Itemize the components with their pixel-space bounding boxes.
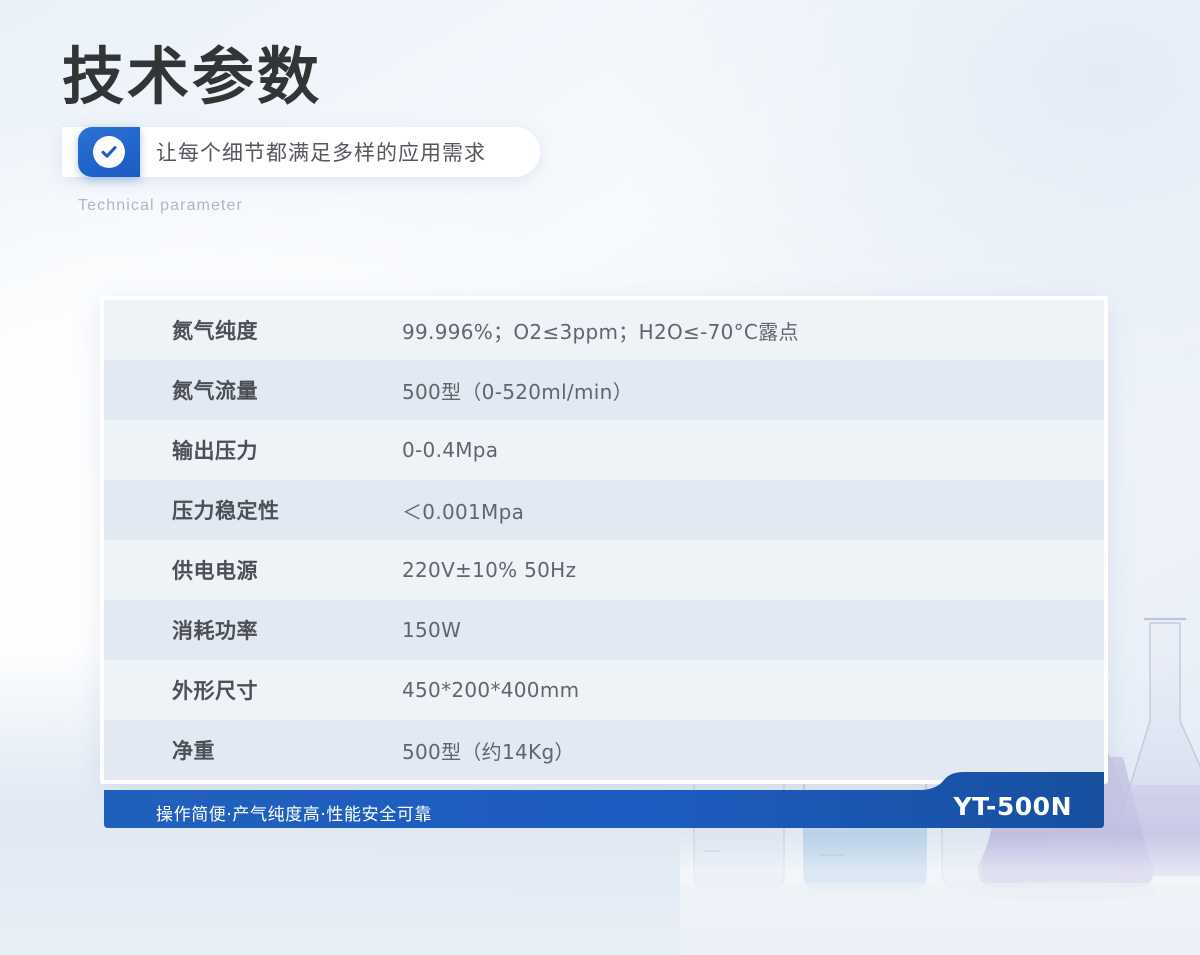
subtitle-text: 让每个细节都满足多样的应用需求 — [156, 127, 486, 177]
banner-tagline: 操作简便·产气纯度高·性能安全可靠 — [156, 792, 432, 832]
spec-row: 外形尺寸450*200*400mm — [104, 660, 1104, 720]
spec-label: 净重 — [104, 735, 402, 765]
spec-value: 450*200*400mm — [402, 678, 1104, 702]
spec-value: 500型（约14Kg） — [402, 736, 1104, 765]
spec-label: 输出压力 — [104, 435, 402, 465]
spec-label: 供电电源 — [104, 555, 402, 585]
spec-table: 氮气纯度99.996%；O2≤3ppm；H2O≤-70°C露点氮气流量500型（… — [104, 300, 1104, 780]
spec-row: 氮气流量500型（0-520ml/min） — [104, 360, 1104, 420]
spec-value: 150W — [402, 618, 1104, 642]
spec-label: 氮气流量 — [104, 375, 402, 405]
spec-value: 99.996%；O2≤3ppm；H2O≤-70°C露点 — [402, 316, 1104, 345]
bench-reflection — [680, 835, 1200, 955]
banner-model-badge: YT-500N — [954, 786, 1072, 826]
spec-label: 外形尺寸 — [104, 675, 402, 705]
spec-table-card: 氮气纯度99.996%；O2≤3ppm；H2O≤-70°C露点氮气流量500型（… — [100, 296, 1108, 784]
page-title: 技术参数 — [62, 44, 540, 109]
spec-row: 压力稳定性＜0.001Mpa — [104, 480, 1104, 540]
spec-value: ＜0.001Mpa — [402, 496, 1104, 525]
spec-label: 氮气纯度 — [104, 315, 402, 345]
subtitle-block: 让每个细节都满足多样的应用需求 — [62, 127, 540, 177]
bottom-banner: 操作简便·产气纯度高·性能安全可靠 YT-500N — [100, 772, 1108, 828]
spec-value: 220V±10% 50Hz — [402, 558, 1104, 582]
spec-label: 消耗功率 — [104, 615, 402, 645]
check-circle-icon — [93, 136, 125, 168]
spec-row: 净重500型（约14Kg） — [104, 720, 1104, 780]
spec-value: 500型（0-520ml/min） — [402, 376, 1104, 405]
page-header: 技术参数 让每个细节都满足多样的应用需求 Technical parameter — [62, 44, 540, 215]
spec-value: 0-0.4Mpa — [402, 438, 1104, 462]
spec-row: 供电电源220V±10% 50Hz — [104, 540, 1104, 600]
spec-row: 氮气纯度99.996%；O2≤3ppm；H2O≤-70°C露点 — [104, 300, 1104, 360]
spec-row: 消耗功率150W — [104, 600, 1104, 660]
english-subtitle: Technical parameter — [78, 197, 540, 215]
spec-row: 输出压力0-0.4Mpa — [104, 420, 1104, 480]
check-badge — [78, 127, 140, 177]
spec-label: 压力稳定性 — [104, 495, 402, 525]
